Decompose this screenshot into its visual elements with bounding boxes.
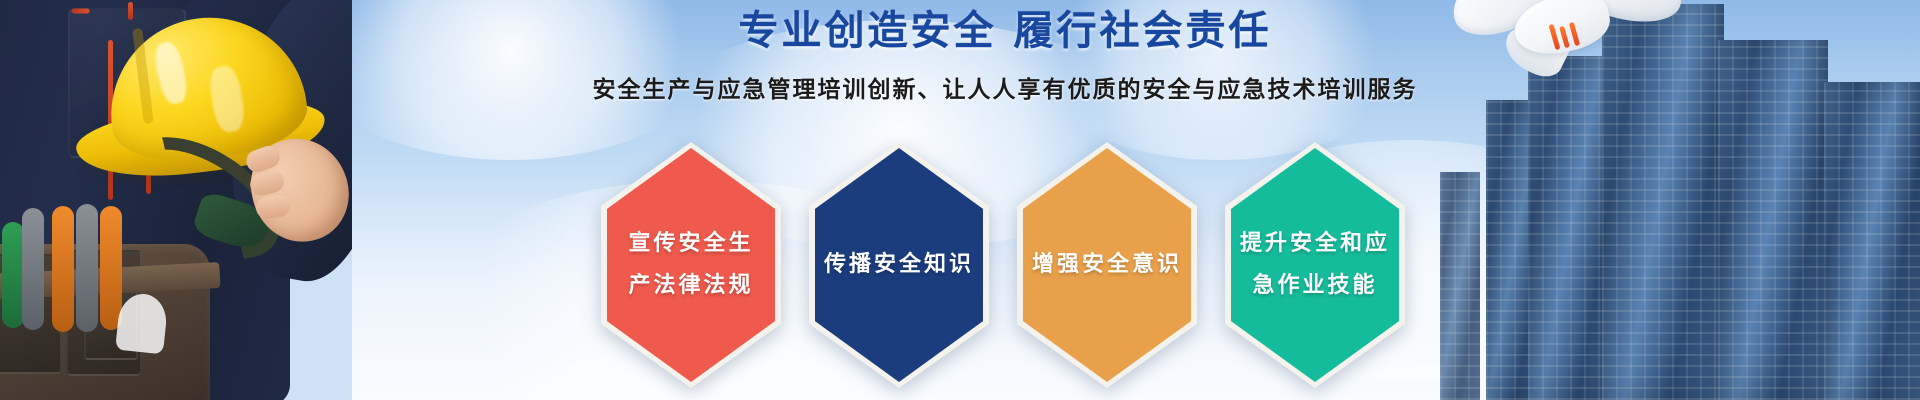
page-title: 专业创造安全 履行社会责任 <box>0 2 1920 60</box>
headline-block: 专业创造安全 履行社会责任 安全生产与应急管理培训创新、让人人享有优质的安全与应… <box>0 2 1920 104</box>
badge-label: 提升安全和应 急作业技能 <box>1225 142 1405 388</box>
badge-safety-awareness[interactable]: 增强安全意识 <box>1017 142 1197 388</box>
badge-row: 宣传安全生 产法律法规 传播安全知识 增强安全意识 提升安全和应 急作业技能 <box>0 142 1920 388</box>
safety-training-banner: 专业创造安全 履行社会责任 安全生产与应急管理培训创新、让人人享有优质的安全与应… <box>0 0 1920 400</box>
badge-safety-laws[interactable]: 宣传安全生 产法律法规 <box>601 142 781 388</box>
badge-safety-knowledge[interactable]: 传播安全知识 <box>809 142 989 388</box>
badge-label: 增强安全意识 <box>1017 142 1197 388</box>
badge-label: 传播安全知识 <box>809 142 989 388</box>
badge-label: 宣传安全生 产法律法规 <box>601 142 781 388</box>
badge-emergency-skills[interactable]: 提升安全和应 急作业技能 <box>1225 142 1405 388</box>
page-subtitle: 安全生产与应急管理培训创新、让人人享有优质的安全与应急技术培训服务 <box>0 70 1920 104</box>
